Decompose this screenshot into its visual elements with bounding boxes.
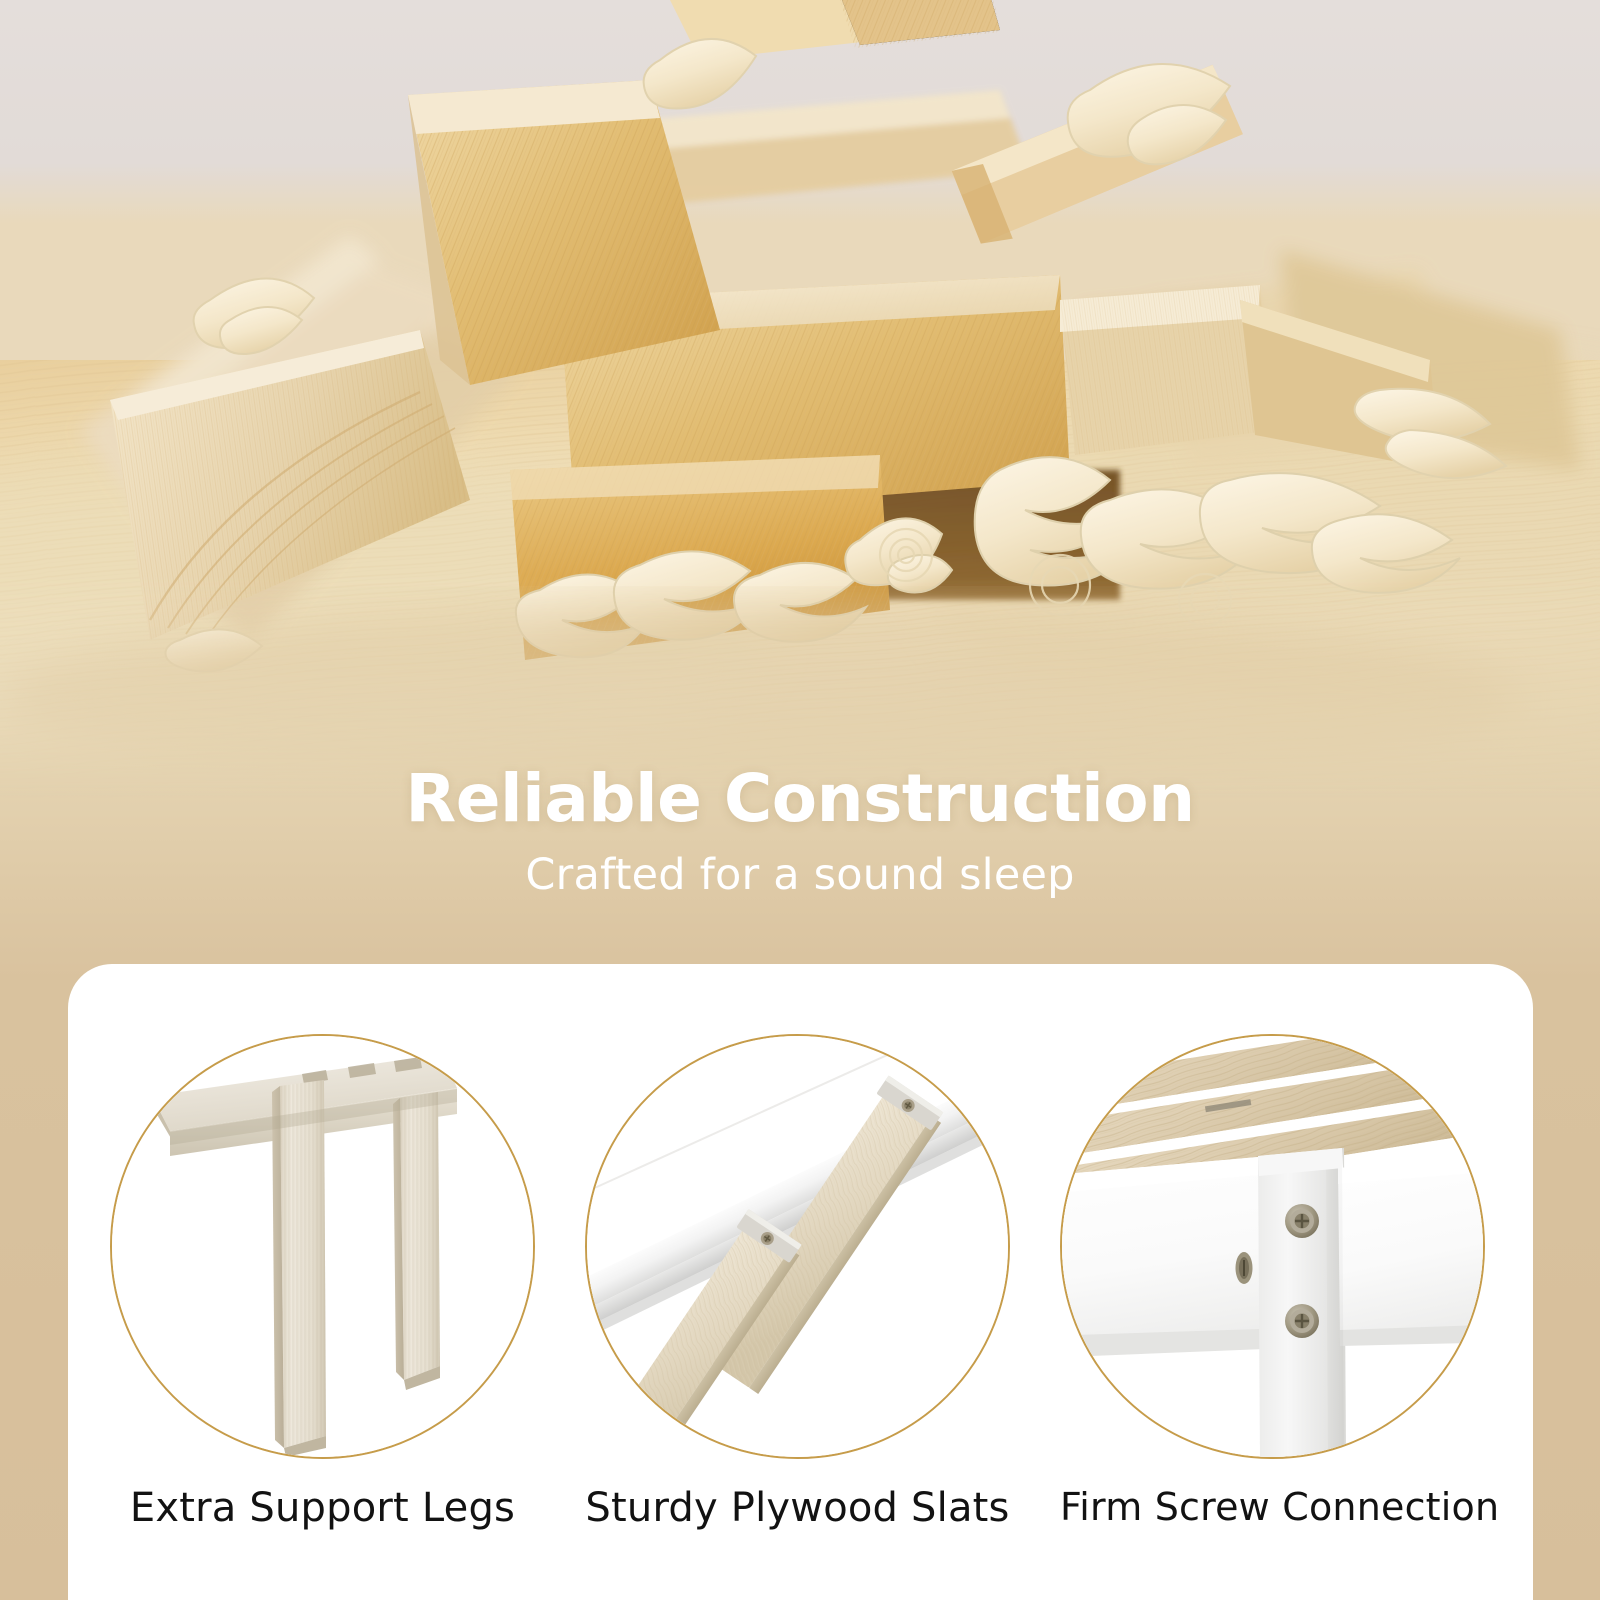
feature-caption-extra-support-legs: Extra Support Legs	[110, 1485, 535, 1531]
feature-image-firm-screw-connection	[1060, 1034, 1485, 1459]
feature-image-extra-support-legs	[110, 1034, 535, 1459]
feature-image-sturdy-plywood-slats	[585, 1034, 1010, 1459]
page-title: Reliable Construction	[0, 766, 1600, 832]
feature-caption-sturdy-plywood-slats: Sturdy Plywood Slats	[585, 1485, 1010, 1531]
feature-item-sturdy-plywood-slats: Sturdy Plywood Slats	[585, 1034, 1010, 1531]
product-feature-poster: Reliable Construction Crafted for a soun…	[0, 0, 1600, 1600]
hero-wood-photo	[0, 0, 1600, 800]
feature-item-firm-screw-connection: Firm Screw Connection	[1060, 1034, 1485, 1529]
feature-caption-firm-screw-connection: Firm Screw Connection	[1060, 1485, 1485, 1529]
feature-card: Extra Support Legs	[68, 964, 1533, 1600]
feature-list: Extra Support Legs	[68, 964, 1533, 1600]
page-subtitle: Crafted for a sound sleep	[0, 854, 1600, 897]
feature-item-extra-support-legs: Extra Support Legs	[110, 1034, 535, 1531]
headline-block: Reliable Construction Crafted for a soun…	[0, 766, 1600, 897]
